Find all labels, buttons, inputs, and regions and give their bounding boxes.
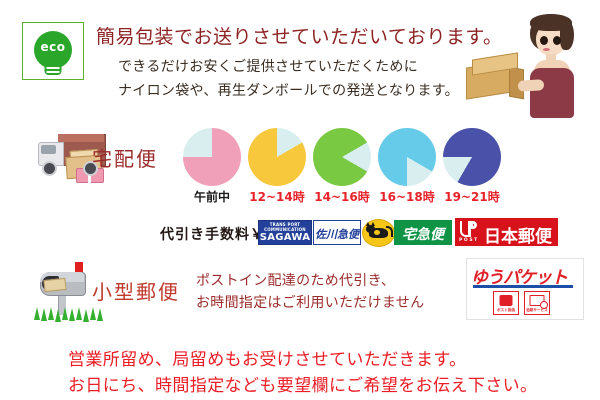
- shipping-info-graphic: eco 簡易包装でお送りさせていただいております。 できるだけお安くご提供させて…: [0, 0, 600, 400]
- bulb-base-icon: [45, 65, 62, 75]
- yupacket-logo: ゆうパケット ポスト投函 追跡サービス: [466, 258, 584, 320]
- kogata-yubin-label: 小型郵便: [92, 276, 180, 305]
- postin-note-line-1: ポストイン配達のため代引き、: [196, 270, 395, 290]
- takuhaibin-label: 宅配便: [92, 143, 158, 172]
- japan-post-logo: POST 日本郵便: [455, 218, 558, 246]
- japan-post-text: 日本郵便: [484, 222, 552, 247]
- sagawa-logo-toptext: TRANS PORTCOMMUNICATION: [259, 223, 311, 232]
- yupacket-underline: [473, 285, 573, 288]
- footer-line-2: お日にち、時間指定なども要望欄にご希望をお伝え下さい。: [68, 371, 537, 396]
- tracking-badge: 追跡サービス: [524, 291, 550, 315]
- pie-slice-1: [183, 128, 241, 186]
- pie-label-5: 19~21時: [427, 188, 517, 205]
- pie-slice-3: [313, 128, 371, 186]
- black-cat-icon: [362, 219, 395, 247]
- header-subline-2: ナイロン袋や、再生ダンボールでの発送となります。: [118, 80, 459, 100]
- grass-icon: [32, 306, 112, 320]
- pie-slice-5: [443, 128, 501, 186]
- pie-slice-4: [378, 128, 436, 186]
- postbox-badge: ポスト投函: [493, 291, 519, 315]
- yamato-takkyubin-text: 宅急便: [394, 224, 452, 244]
- eco-badge: eco: [22, 22, 84, 80]
- sagawa-logo: TRANS PORTCOMMUNICATION SAGAWA: [258, 220, 312, 245]
- sagawa-logo-maintext: SAGAWA: [259, 232, 311, 243]
- sagawa-kyubin-text: 佐川急便: [314, 226, 360, 242]
- woman-carrying-box-illustration: [512, 14, 590, 120]
- jp-post-subtext: POST: [459, 238, 479, 243]
- header-subline-1: できるだけお安くご提供させていただくために: [118, 56, 418, 76]
- jp-mark-icon: [459, 221, 479, 238]
- postin-note-line-2: お時間指定はご利用いただけません: [196, 292, 424, 312]
- eco-badge-label: eco: [23, 40, 83, 54]
- page-title: 簡易包装でお送りさせていただいております。: [96, 22, 502, 49]
- sagawa-kyubin-logo: 佐川急便: [313, 220, 361, 245]
- footer-line-1: 営業所留め、局留めもお受けさせていただきます。: [68, 345, 467, 370]
- yamato-takkyubin-logo: 宅急便: [394, 220, 452, 245]
- pie-slice-2: [248, 128, 306, 186]
